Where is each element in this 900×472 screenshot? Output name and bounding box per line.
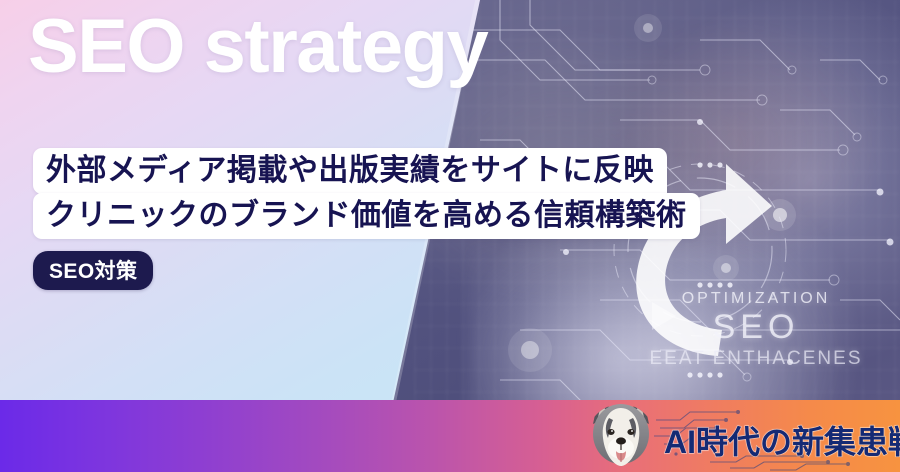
subheadline-line-1: 外部メディア掲載や出版実績をサイトに反映 [33,148,667,194]
avatar [575,394,667,472]
subheadline: 外部メディア掲載や出版実績をサイトに反映 クリニックのブランド価値を高める信頼構… [33,148,700,239]
subheadline-line-2: クリニックのブランド価値を高める信頼構築術 [33,193,700,239]
status-badge: SEO対策 [33,251,153,290]
seo-strategy-banner: OPTIMIZATION SEO EEAT ENTHACENES SEO str… [0,0,900,472]
husky-dog-avatar-icon [575,394,667,472]
footer-bar: AI時代の新集患戦略 [0,400,900,472]
page-title: SEO strategy [28,9,487,85]
footer-tagline: AI時代の新集患戦略 [664,426,900,458]
